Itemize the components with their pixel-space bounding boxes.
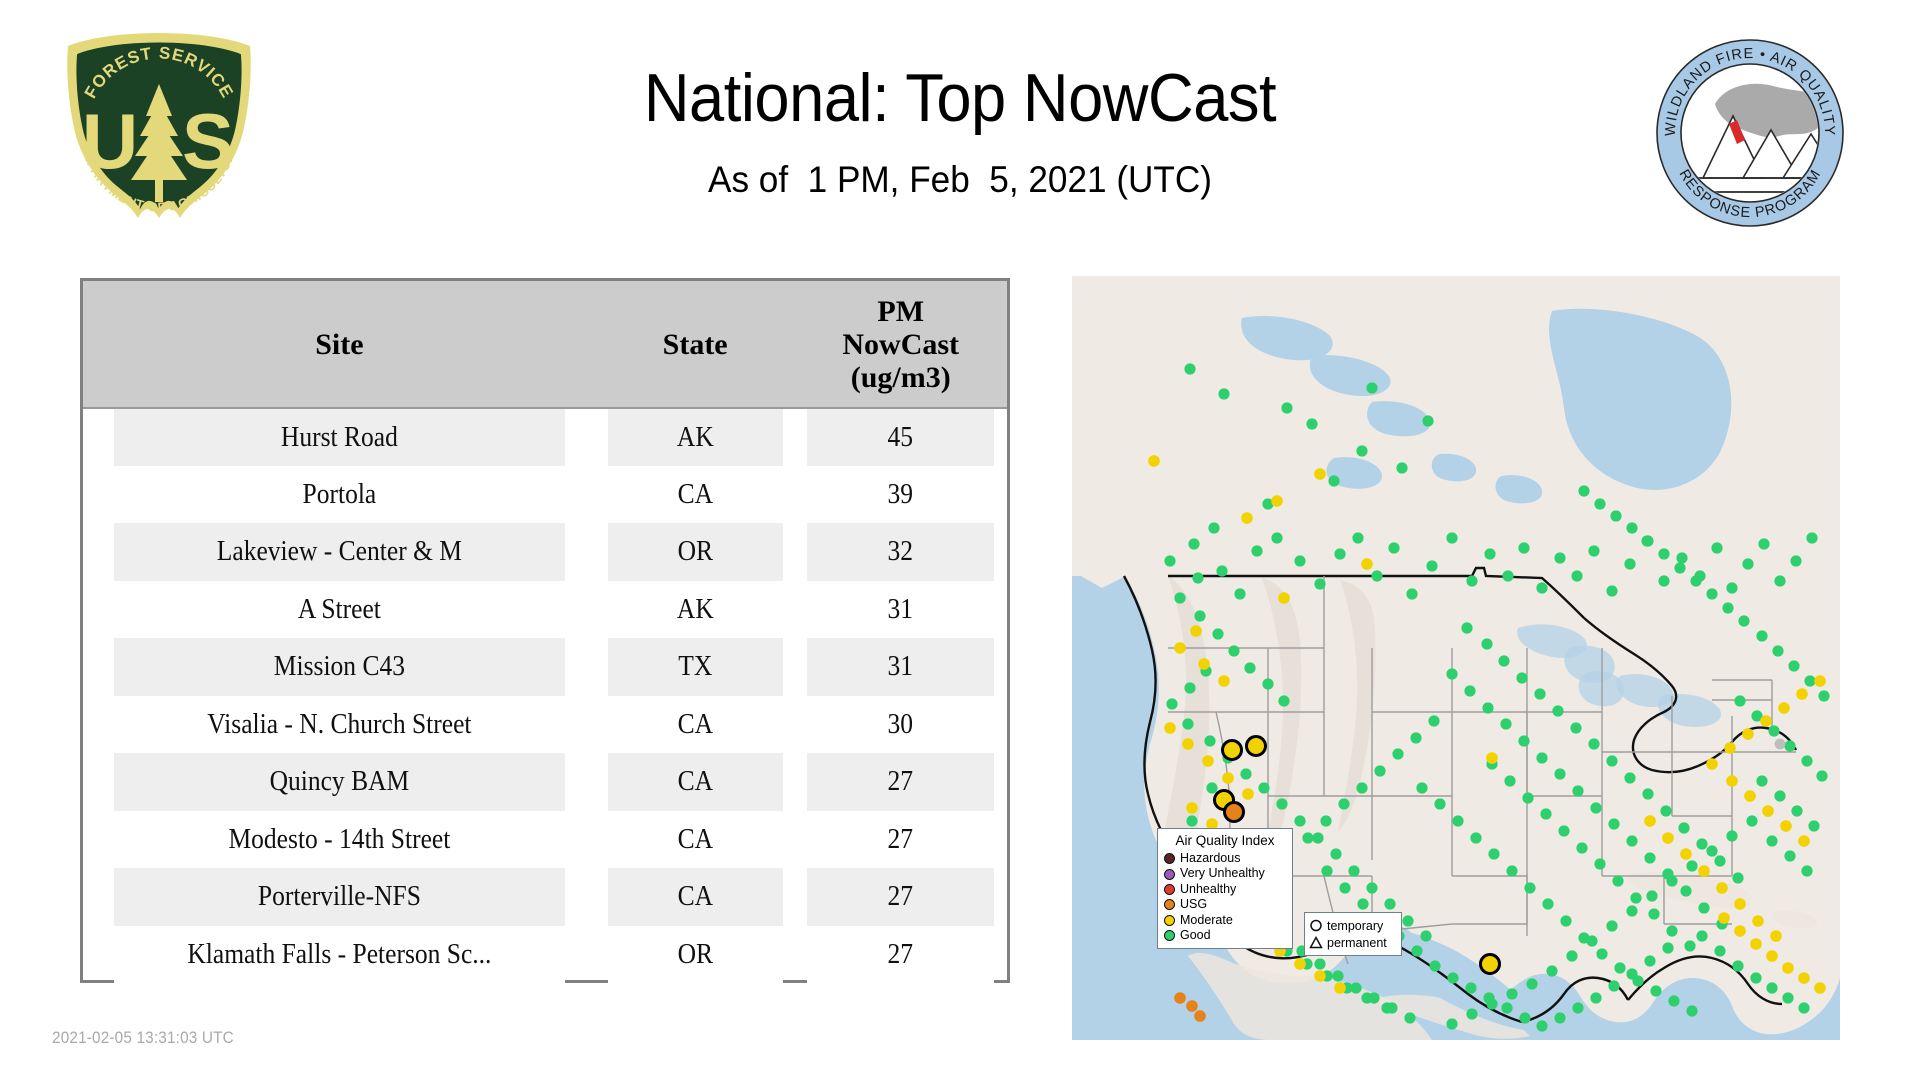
monitor-dot-good[interactable] [1534,688,1545,699]
monitor-dot-good[interactable] [1302,832,1313,843]
monitor-dot-good[interactable] [1504,775,1515,786]
monitor-dot-moderate[interactable] [1770,930,1782,942]
monitor-dot-moderate[interactable] [1762,805,1774,817]
monitor-dot-good[interactable] [1782,992,1793,1003]
table-row[interactable]: Visalia - N. Church StreetCA30 [83,696,1007,754]
monitor-dot-good[interactable] [1566,950,1577,961]
monitor-dot-good[interactable] [1518,542,1529,553]
monitor-dot-good[interactable] [1606,585,1617,596]
monitor-dot-good[interactable] [1578,932,1589,943]
monitor-dot-moderate[interactable] [1314,970,1326,982]
monitor-dot-good[interactable] [1660,805,1671,816]
monitor-dot-good[interactable] [1481,638,1492,649]
monitor-dot-good[interactable] [1348,865,1359,876]
monitor-dot-good[interactable] [1446,1018,1457,1029]
monitor-dot-good[interactable] [1750,972,1761,983]
legend-label: Good [1180,928,1211,943]
legend-row-hazardous: Hazardous [1164,851,1286,866]
highlighted-monitor-dot[interactable] [1225,803,1244,822]
site-cell: Porterville-NFS [114,868,565,926]
monitor-dot-good[interactable] [1446,668,1457,679]
table-row[interactable]: Quincy BAMCA27 [83,753,1007,811]
monitor-dot-good[interactable] [1320,815,1331,826]
monitor-dot-moderate[interactable] [1314,468,1326,480]
national-monitor-map[interactable]: Air Quality Index HazardousVery Unhealth… [1072,276,1840,1040]
monitor-dot-good[interactable] [1428,715,1439,726]
monitor-dot-good[interactable] [1662,942,1673,953]
state-cell: CA [608,753,783,811]
monitor-dot-good[interactable] [1466,575,1477,586]
monitor-dot-moderate[interactable] [1218,675,1230,687]
table-row[interactable]: Hurst RoadAK45 [83,408,1007,466]
monitor-dot-good[interactable] [1356,445,1367,456]
monitor-dot-good[interactable] [1294,555,1305,566]
monitor-dot-good[interactable] [1357,898,1368,909]
column-header-state[interactable]: State [596,281,795,408]
monitor-dot-good[interactable] [1684,940,1695,951]
monitor-dot-good[interactable] [1576,842,1587,853]
monitor-dot-good[interactable] [1676,552,1687,563]
monitor-dot-moderate[interactable] [1222,772,1234,784]
monitor-dot-moderate[interactable] [1190,625,1202,637]
monitor-dot-good[interactable] [1572,1002,1583,1013]
monitor-dot-moderate[interactable] [1680,848,1692,860]
monitor-dot-good[interactable] [1166,698,1177,709]
monitor-dot-good[interactable] [1228,645,1239,656]
monitor-dot-good[interactable] [1536,582,1547,593]
monitor-dot-moderate[interactable] [1294,958,1306,970]
monitor-dot-good[interactable] [1426,560,1437,571]
monitor-dot-good[interactable] [1500,718,1511,729]
monitor-dot-good[interactable] [1218,388,1229,399]
table-row[interactable]: Porterville-NFSCA27 [83,868,1007,926]
monitor-dot-good[interactable] [1186,815,1197,826]
monitor-dot-good[interactable] [1722,602,1733,613]
monitor-dot-good[interactable] [1788,660,1799,671]
monitor-dot-good[interactable] [1732,960,1743,971]
monitor-dot-good[interactable] [1772,645,1783,656]
monitor-dot-good[interactable] [1321,865,1332,876]
monitor-dot-moderate[interactable] [1734,898,1746,910]
monitor-dot-good[interactable] [1738,615,1749,626]
monitor-dot-good[interactable] [1644,852,1655,863]
monitor-dot-usg[interactable] [1186,1000,1198,1012]
pm-cell: 27 [807,926,994,984]
monitor-dot-good[interactable] [1174,592,1185,603]
monitor-dot-moderate[interactable] [1718,912,1730,924]
legend-row-temporary: temporary [1309,917,1396,934]
monitor-dot-moderate[interactable] [1662,832,1674,844]
monitor-dot-good[interactable] [1658,575,1669,586]
monitor-dot-good[interactable] [1594,498,1605,509]
monitor-dot-good[interactable] [1610,510,1621,521]
monitor-dot-good[interactable] [1312,832,1323,843]
monitor-dot-good[interactable] [1746,815,1757,826]
monitor-dot-good[interactable] [1386,1002,1397,1013]
monitor-dot-good[interactable] [1366,382,1377,393]
monitor-dot-moderate[interactable] [1486,752,1498,764]
monitor-dot-good[interactable] [1506,865,1517,876]
monitor-dot-good[interactable] [1644,955,1655,966]
monitor-dot-good[interactable] [1422,415,1433,426]
monitor-dot-good[interactable] [1384,898,1395,909]
monitor-dot-good[interactable] [1726,830,1737,841]
monitor-dot-good[interactable] [1192,572,1203,583]
monitor-dot-good[interactable] [1188,538,1199,549]
monitor-dot-good[interactable] [1608,818,1619,829]
monitor-dot-good[interactable] [1332,970,1343,981]
monitor-dot-good[interactable] [1642,535,1653,546]
monitor-dot-good[interactable] [1674,562,1685,573]
monitor-dot-good[interactable] [1402,915,1413,926]
monitor-dot-good[interactable] [1502,570,1513,581]
monitor-dot-good[interactable] [1498,655,1509,666]
monitor-dot-good[interactable] [1756,775,1767,786]
monitor-dot-good[interactable] [1350,982,1361,993]
monitor-dot-moderate[interactable] [1766,950,1778,962]
monitor-dot-good[interactable] [1706,588,1717,599]
monitor-dot-good[interactable] [1262,678,1273,689]
monitor-dot-good[interactable] [1668,995,1679,1006]
state-cell: AK [608,408,783,466]
monitor-dot-good[interactable] [1204,735,1215,746]
monitor-dot-good[interactable] [1658,548,1669,559]
monitor-dot-good[interactable] [1572,785,1583,796]
monitor-dot-good[interactable] [1818,690,1829,701]
monitor-dot-good[interactable] [1648,908,1659,919]
monitor-dot-good[interactable] [1690,575,1701,586]
monitor-dot-good[interactable] [1464,685,1475,696]
monitor-dot-good[interactable] [1570,722,1581,733]
column-header-pm-nowcast[interactable]: PM NowCast (ug/m3) [794,281,1007,408]
monitor-dot-moderate[interactable] [1644,815,1656,827]
monitor-dot-good[interactable] [1650,985,1661,996]
monitor-dot-good[interactable] [1536,752,1547,763]
monitor-dot-moderate[interactable] [1750,938,1762,950]
monitor-dot-good[interactable] [1666,925,1677,936]
monitor-dot-good[interactable] [1594,858,1605,869]
monitor-dot-good[interactable] [1356,782,1367,793]
monitor-dot-good[interactable] [1366,882,1377,893]
monitor-dot-good[interactable] [1330,848,1341,859]
monitor-dot-good[interactable] [1374,765,1385,776]
monitor-dot-good[interactable] [1808,820,1819,831]
monitor-dot-moderate[interactable] [1742,728,1754,740]
monitor-dot-moderate[interactable] [1334,982,1346,994]
monitor-dot-good[interactable] [1524,882,1535,893]
monitor-dot-good[interactable] [1696,838,1707,849]
monitor-dot-good[interactable] [1774,575,1785,586]
monitor-dot-good[interactable] [1554,552,1565,563]
legend-rows: HazardousVery UnhealthyUnhealthyUSGModer… [1164,851,1286,943]
monitor-dot-good[interactable] [1164,555,1175,566]
monitor-dot-good[interactable] [1626,835,1637,846]
monitor-dot-good[interactable] [1338,798,1349,809]
monitor-dot-moderate[interactable] [1174,642,1186,654]
state-cell: CA [608,811,783,869]
monitor-dot-good[interactable] [1768,725,1779,736]
monitor-dot-good[interactable] [1258,782,1269,793]
monitor-dot-good[interactable] [1518,735,1529,746]
monitor-dot-good[interactable] [1558,825,1569,836]
monitor-dot-good[interactable] [1578,485,1589,496]
monitor-dot-good[interactable] [1516,672,1527,683]
monitor-dot-good[interactable] [1816,770,1827,781]
monitor-dot-good[interactable] [1790,555,1801,566]
monitor-dot-moderate[interactable] [1271,495,1283,507]
monitor-dot-good[interactable] [1714,855,1725,866]
monitor-dot-good[interactable] [1294,815,1305,826]
aqi-swatch-icon [1164,853,1175,864]
site-cell: A Street [114,581,565,639]
monitor-dot-good[interactable] [1726,582,1737,593]
monitor-dot-good[interactable] [1680,885,1691,896]
table-header: Site State PM NowCast (ug/m3) [83,281,1007,408]
table-row[interactable]: PortolaCA39 [83,466,1007,524]
monitor-dot-good[interactable] [1554,1012,1565,1023]
site-cell: Mission C43 [114,638,565,696]
monitor-dot-good[interactable] [1806,532,1817,543]
page-subtitle: As of 1 PM, Feb 5, 2021 (UTC) [352,158,1568,202]
monitor-dot-good[interactable] [1766,982,1777,993]
monitor-dot-good[interactable] [1706,845,1717,856]
table-row[interactable]: Modesto - 14th StreetCA27 [83,811,1007,869]
monitor-dot-good[interactable] [1742,558,1753,569]
monitor-dot-good[interactable] [1368,992,1379,1003]
monitor-dot-good[interactable] [1734,695,1745,706]
monitor-dot-good[interactable] [1696,930,1707,941]
monitor-dot-good[interactable] [1632,975,1643,986]
monitor-dot-good[interactable] [1434,798,1445,809]
monitor-dot-moderate[interactable] [1752,915,1764,927]
monitor-dot-good[interactable] [1608,980,1619,991]
monitor-dot-good[interactable] [1606,920,1617,931]
monitor-dot-good[interactable] [1488,848,1499,859]
monitor-dot-good[interactable] [1526,978,1537,989]
column-header-site[interactable]: Site [83,281,596,408]
monitor-dot-moderate[interactable] [1814,982,1826,994]
monitor-dot-good[interactable] [1452,815,1463,826]
pm-header-line-1: PM [877,295,924,328]
monitor-dot-good[interactable] [1732,872,1743,883]
monitor-dot-good[interactable] [1396,462,1407,473]
monitor-dot-good[interactable] [1642,788,1653,799]
monitor-dot-good[interactable] [1240,768,1251,779]
monitor-dot-good[interactable] [1501,1002,1512,1013]
monitor-dot-good[interactable] [1216,565,1227,576]
monitor-dot-moderate[interactable] [1241,512,1253,524]
monitor-dot-moderate[interactable] [1744,790,1756,802]
pm-cell: 31 [807,581,994,639]
monitor-dot-good[interactable] [1234,588,1245,599]
monitor-dot-moderate[interactable] [1796,688,1808,700]
table-row[interactable]: Mission C43TX31 [83,638,1007,696]
monitor-dot-good[interactable] [1554,768,1565,779]
monitor-dot-good[interactable] [1251,545,1262,556]
monitor-dot-good[interactable] [1540,808,1551,819]
monitor-dot-moderate[interactable] [1164,722,1176,734]
monitor-dot-good[interactable] [1766,835,1777,846]
monitor-dot-good[interactable] [1334,548,1345,559]
monitor-dot-good[interactable] [1466,1008,1477,1019]
monitor-dot-good[interactable] [1410,732,1421,743]
monitor-dot-good[interactable] [1801,755,1812,766]
table-row[interactable]: Klamath Falls - Peterson Sc...OR27 [83,926,1007,984]
site-cell: Portola [114,466,565,524]
monitor-dot-moderate[interactable] [1798,835,1810,847]
monitor-dot-good[interactable] [1470,832,1481,843]
monitor-dot-good[interactable] [1536,1020,1547,1031]
monitor-dot-good[interactable] [1206,782,1217,793]
monitor-dot-moderate[interactable] [1278,592,1290,604]
site-cell: Modesto - 14th Street [114,811,565,869]
monitor-dot-good[interactable] [1519,1012,1530,1023]
monitor-dot-good[interactable] [1184,682,1195,693]
monitor-dot-good[interactable] [1624,558,1635,569]
monitor-dot-good[interactable] [1352,532,1363,543]
monitor-dot-good[interactable] [1798,1002,1809,1013]
monitor-dot-good[interactable] [1588,545,1599,556]
monitor-dot-good[interactable] [1774,790,1785,801]
monitor-dot-good[interactable] [1461,622,1472,633]
monitor-dot-good[interactable] [1590,802,1601,813]
highlighted-monitor-dot[interactable] [1223,741,1242,760]
monitor-dot-good[interactable] [1484,548,1495,559]
monitor-dot-good[interactable] [1392,748,1403,759]
monitor-dot-moderate[interactable] [1724,742,1736,754]
monitor-dot-moderate[interactable] [1361,558,1373,570]
monitor-dot-moderate[interactable] [1760,715,1772,727]
monitor-dot-moderate[interactable] [1242,788,1254,800]
monitor-dot-good[interactable] [1281,402,1292,413]
aqi-swatch-icon [1164,869,1175,880]
monitor-dot-good[interactable] [1483,992,1494,1003]
monitor-dot-good[interactable] [1420,930,1431,941]
monitor-dot-good[interactable] [1571,570,1582,581]
state-cell: OR [608,523,783,581]
monitor-dot-good[interactable] [1626,905,1637,916]
nowcast-report-page: FOREST SERVICE DEPARTMENT OF AGRICULTURE… [0,0,1920,1080]
monitor-dot-good[interactable] [1646,890,1657,901]
monitor-dot-good[interactable] [1404,1012,1415,1023]
monitor-dot-good[interactable] [1606,755,1617,766]
monitor-dot-good[interactable] [1686,1005,1697,1016]
monitor-dot-good[interactable] [1784,740,1795,751]
monitor-dot-good[interactable] [1306,418,1317,429]
monitor-dot-good[interactable] [1624,772,1635,783]
monitor-dot-good[interactable] [1714,945,1725,956]
monitor-dot-moderate[interactable] [1148,455,1160,467]
monitor-dot-good[interactable] [1506,988,1517,999]
monitor-dot-good[interactable] [1371,570,1382,581]
legend-row-unhealthy: Unhealthy [1164,882,1286,897]
monitor-dot-good[interactable] [1612,875,1623,886]
monitor-dot-good[interactable] [1411,945,1422,956]
monitor-dot-moderate[interactable] [1798,972,1810,984]
monitor-dot-moderate[interactable] [1198,658,1210,670]
monitor-dot-good[interactable] [1314,578,1325,589]
monitor-dot-good[interactable] [1276,798,1287,809]
monitor-dot-good[interactable] [1182,718,1193,729]
monitor-dot-good[interactable] [1465,982,1476,993]
monitor-dot-good[interactable] [1678,822,1689,833]
monitor-dot-good[interactable] [1590,992,1601,1003]
monitor-dot-moderate[interactable] [1186,802,1198,814]
monitor-dot-good[interactable] [1542,898,1553,909]
monitor-dot-good[interactable] [1801,865,1812,876]
highlighted-monitor-dot[interactable] [1247,737,1266,756]
monitor-dot-good[interactable] [1804,675,1815,686]
monitor-dot-good[interactable] [1560,915,1571,926]
monitor-dot-good[interactable] [1698,902,1709,913]
monitor-dot-unknown[interactable] [1775,739,1786,750]
monitor-dot-good[interactable] [1406,588,1417,599]
monitor-dot-good[interactable] [1184,363,1195,374]
table-row[interactable]: Lakeview - Center & MOR32 [83,523,1007,581]
monitor-dot-good[interactable] [1388,542,1399,553]
monitor-dot-good[interactable] [1244,662,1255,673]
aqi-swatch-icon [1164,915,1175,926]
monitor-dot-good[interactable] [1522,792,1533,803]
monitor-dot-good[interactable] [1784,850,1795,861]
monitor-dot-good[interactable] [1271,532,1282,543]
monitor-dot-moderate[interactable] [1814,675,1826,687]
monitor-dot-good[interactable] [1711,542,1722,553]
monitor-dot-good[interactable] [1208,522,1219,533]
monitor-dot-moderate[interactable] [1726,775,1738,787]
monitor-dot-moderate[interactable] [1706,758,1718,770]
monitor-dot-good[interactable] [1212,628,1223,639]
monitor-dot-good[interactable] [1278,695,1289,706]
monitor-dot-moderate[interactable] [1780,820,1792,832]
monitor-dot-good[interactable] [1630,892,1641,903]
monitor-dot-good[interactable] [1588,738,1599,749]
monitor-dot-good[interactable] [1758,538,1769,549]
monitor-dot-good[interactable] [1552,705,1563,716]
monitor-dot-moderate[interactable] [1202,755,1214,767]
monitor-dot-good[interactable] [1614,962,1625,973]
monitor-dot-good[interactable] [1416,782,1427,793]
highlighted-monitor-dot[interactable] [1481,955,1500,974]
monitor-dot-good[interactable] [1447,972,1458,983]
monitor-dot-usg[interactable] [1194,1010,1206,1022]
monitor-dot-moderate[interactable] [1734,925,1746,937]
monitor-dot-good[interactable] [1314,958,1325,969]
monitor-dot-moderate[interactable] [1716,882,1728,894]
monitor-dot-good[interactable] [1429,960,1440,971]
monitor-dot-good[interactable] [1339,882,1350,893]
monitor-dot-good[interactable] [1194,610,1205,621]
monitor-dot-good[interactable] [1686,860,1697,871]
monitor-dot-good[interactable] [1596,948,1607,959]
monitor-dot-good[interactable] [1446,532,1457,543]
monitor-dot-good[interactable] [1791,805,1802,816]
top-nowcast-table-container: Site State PM NowCast (ug/m3) Hurst Road… [80,278,1010,983]
monitor-dot-moderate[interactable] [1778,702,1790,714]
monitor-dot-good[interactable] [1546,965,1557,976]
table-row[interactable]: A StreetAK31 [83,581,1007,639]
monitor-dot-moderate[interactable] [1182,738,1194,750]
monitor-dot-good[interactable] [1626,522,1637,533]
monitor-dot-good[interactable] [1328,475,1339,486]
monitor-dot-moderate[interactable] [1698,865,1710,877]
monitor-dot-moderate[interactable] [1782,962,1794,974]
monitor-dot-usg[interactable] [1174,992,1186,1004]
wildland-fire-air-quality-response-program-logo: WILDLAND FIRE • AIR QUALITY RESPONSE PRO… [1655,38,1845,228]
monitor-dot-good[interactable] [1666,875,1677,886]
monitor-dot-good[interactable] [1482,702,1493,713]
monitor-dot-good[interactable] [1756,630,1767,641]
